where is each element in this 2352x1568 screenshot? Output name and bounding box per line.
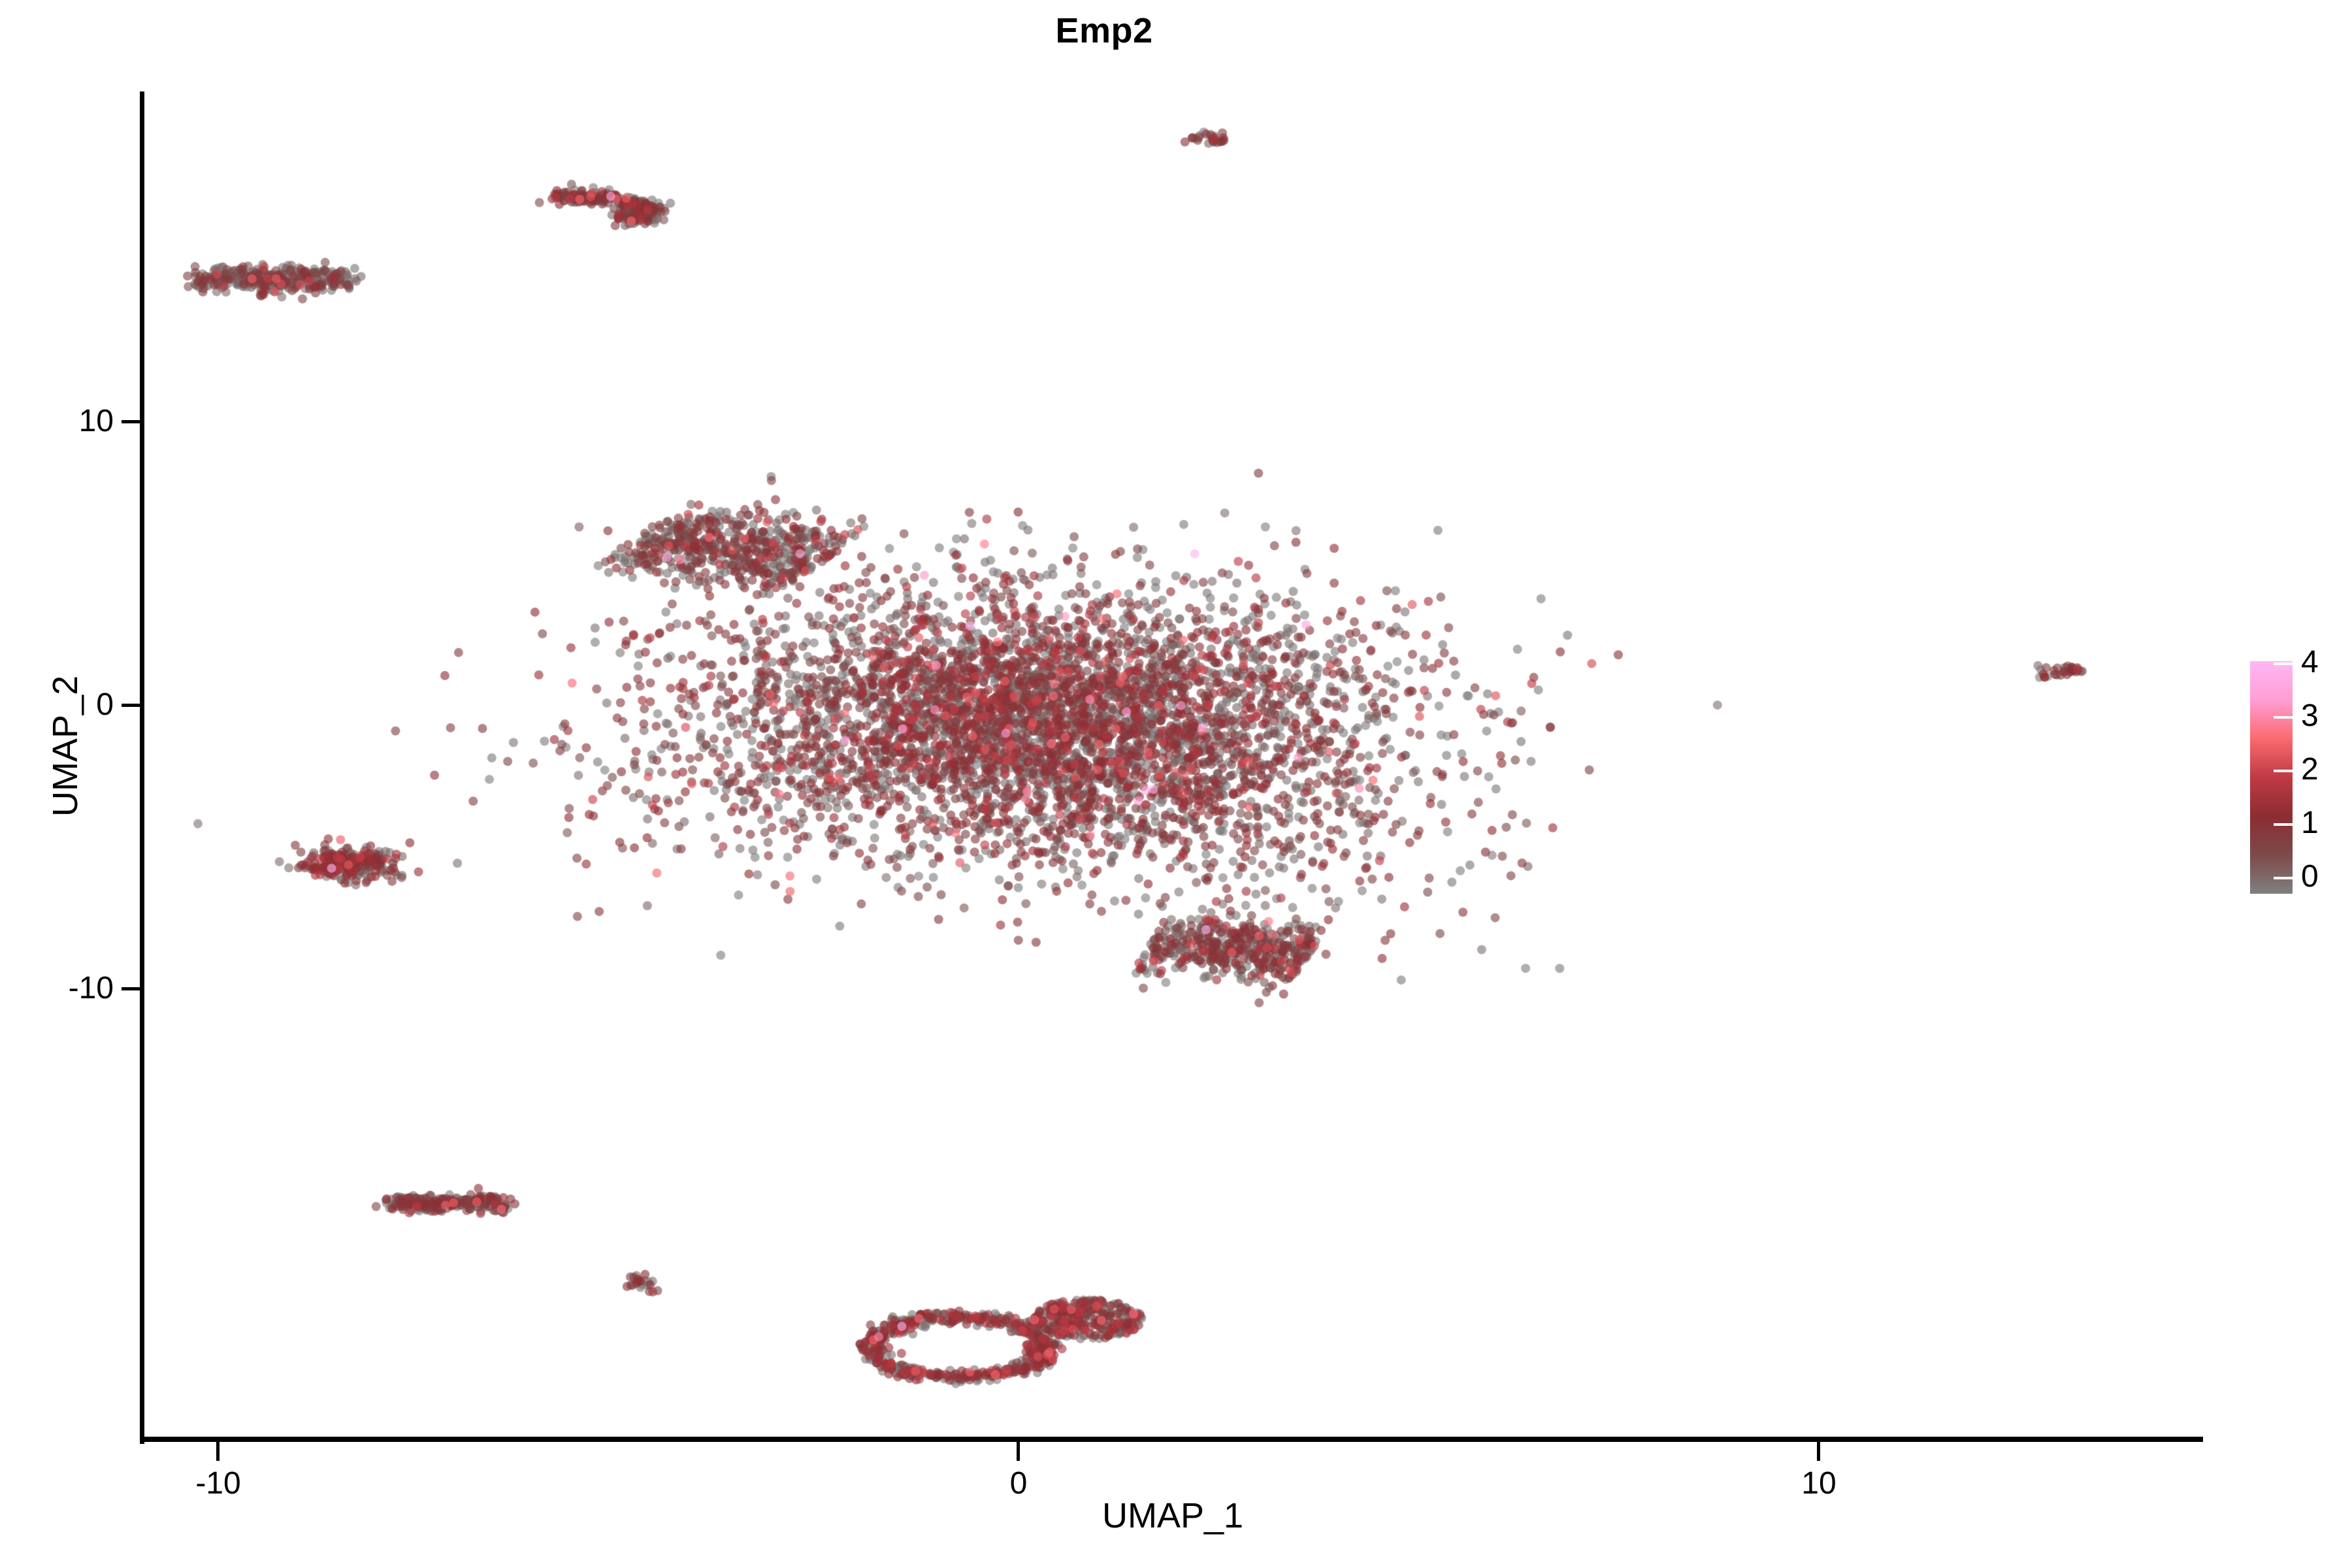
scatter-plot-canvas xyxy=(144,91,2202,1439)
x-axis-title: UMAP_1 xyxy=(144,1495,2202,1537)
y-tick-label-10: 10 xyxy=(9,403,114,440)
colorbar-legend: 4 3 2 1 0 xyxy=(2250,661,2342,894)
colorbar-tick-4 xyxy=(2274,662,2293,665)
page-title: Emp2 xyxy=(0,8,2208,54)
y-axis-line xyxy=(140,91,144,1444)
y-tick-mark-0 xyxy=(122,704,140,707)
colorbar-label-1: 1 xyxy=(2301,807,2319,840)
colorbar-tick-3 xyxy=(2274,716,2293,719)
umap-feature-plot: Emp2 10 0 -10 -10 0 10 UMAP_1 UMAP_2 4 3… xyxy=(0,0,2352,1568)
y-tick-mark-neg10 xyxy=(122,987,140,990)
colorbar-tick-1 xyxy=(2274,823,2293,826)
colorbar-tick-0 xyxy=(2274,877,2293,879)
colorbar-label-3: 3 xyxy=(2301,700,2319,732)
y-axis-title: UMAP_2 xyxy=(44,485,86,1007)
y-tick-mark-10 xyxy=(122,420,140,423)
x-tick-mark-neg10 xyxy=(216,1442,220,1461)
colorbar-label-2: 2 xyxy=(2301,753,2319,786)
colorbar-tick-2 xyxy=(2274,770,2293,772)
x-tick-mark-10 xyxy=(1817,1442,1820,1461)
colorbar-gradient xyxy=(2250,661,2293,894)
colorbar-label-0: 0 xyxy=(2301,860,2319,893)
plot-panel xyxy=(144,91,2202,1439)
colorbar-label-4: 4 xyxy=(2301,646,2319,679)
x-axis-line xyxy=(140,1437,2203,1442)
x-tick-mark-0 xyxy=(1017,1442,1020,1461)
